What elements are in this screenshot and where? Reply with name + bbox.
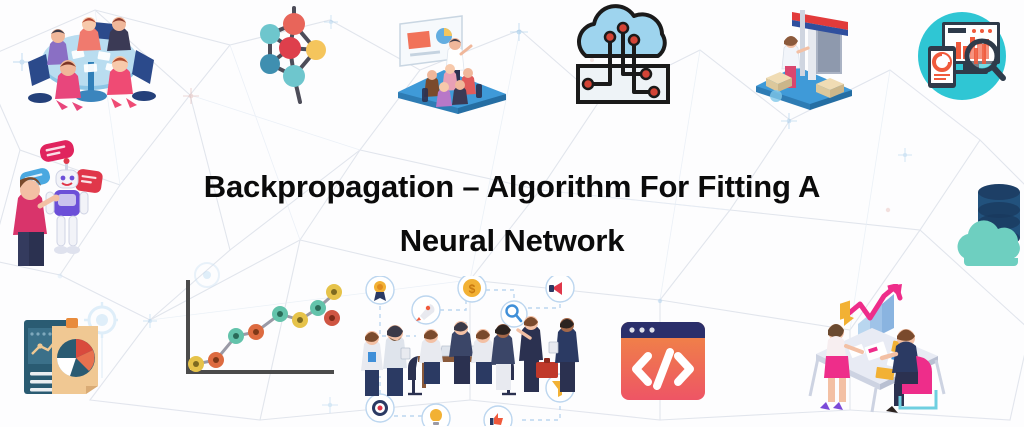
illustration-code-window: [616, 314, 710, 408]
svg-text:$: $: [469, 282, 476, 296]
illustration-desk-growth-chart: [796, 284, 960, 420]
illustration-presentation-meeting: [392, 14, 512, 114]
illustration-business-team: $: [346, 276, 596, 426]
illustration-neural-network-nodes: [248, 6, 358, 106]
illustration-data-analytics: [908, 6, 1016, 110]
illustration-cloud-computing: [562, 4, 682, 112]
illustration-cloud-database: [956, 176, 1024, 268]
illustration-human-robot-chat: [4, 136, 124, 268]
illustration-kiosk-display-person: [752, 4, 862, 112]
article-banner: $: [0, 0, 1024, 427]
illustration-report-pie-chart: [14, 302, 118, 408]
illustration-team-meeting-table: [10, 2, 170, 120]
illustration-line-chart: [176, 278, 346, 388]
